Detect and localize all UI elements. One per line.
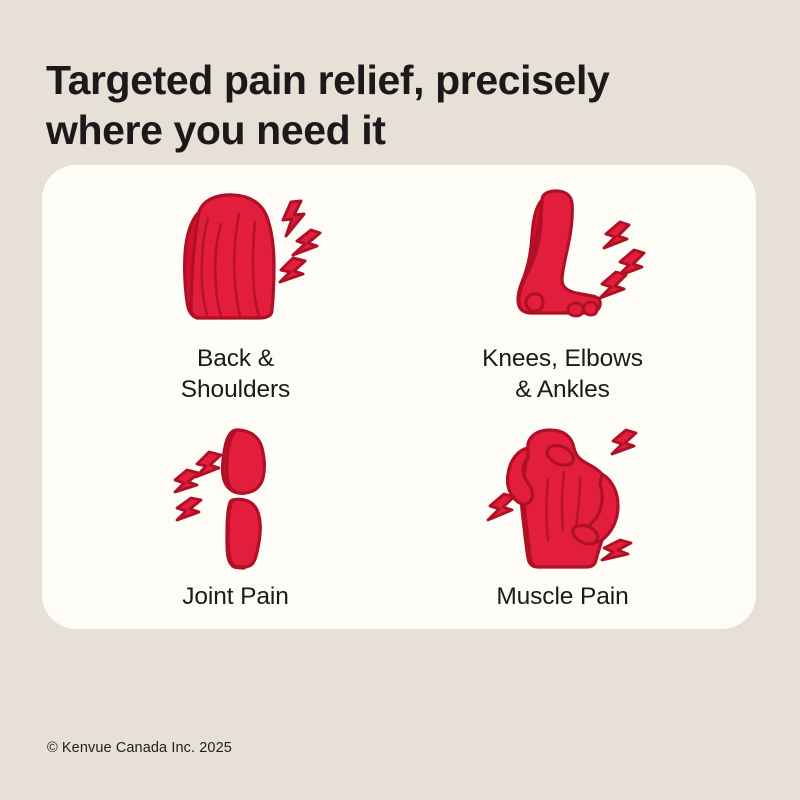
- pain-area-label: Joint Pain: [182, 581, 289, 612]
- promo-graphic: Targeted pain relief, precisely where yo…: [0, 0, 800, 800]
- pain-area-label: Back & Shoulders: [181, 343, 290, 405]
- pain-area-item-back-shoulders[interactable]: Back & Shoulders: [72, 183, 399, 405]
- copyright-notice: © Kenvue Canada Inc. 2025: [47, 740, 232, 756]
- pain-area-item-joint-pain[interactable]: Joint Pain: [72, 405, 399, 615]
- back-torso-icon: [141, 189, 331, 329]
- pain-area-item-knees-elbows-ankles[interactable]: Knees, Elbows & Ankles: [399, 183, 726, 405]
- knee-joint-bone-icon: [141, 427, 331, 567]
- muscle-back-person-icon: [468, 427, 658, 567]
- page-title: Targeted pain relief, precisely where yo…: [46, 55, 736, 155]
- pain-area-item-muscle-pain[interactable]: Muscle Pain: [399, 405, 726, 615]
- pain-area-label: Knees, Elbows & Ankles: [482, 343, 643, 405]
- pain-areas-grid: Back & Shoulders: [42, 165, 756, 629]
- pain-area-label: Muscle Pain: [496, 581, 628, 612]
- pain-areas-card: Back & Shoulders: [42, 165, 756, 629]
- foot-ankle-icon: [468, 189, 658, 329]
